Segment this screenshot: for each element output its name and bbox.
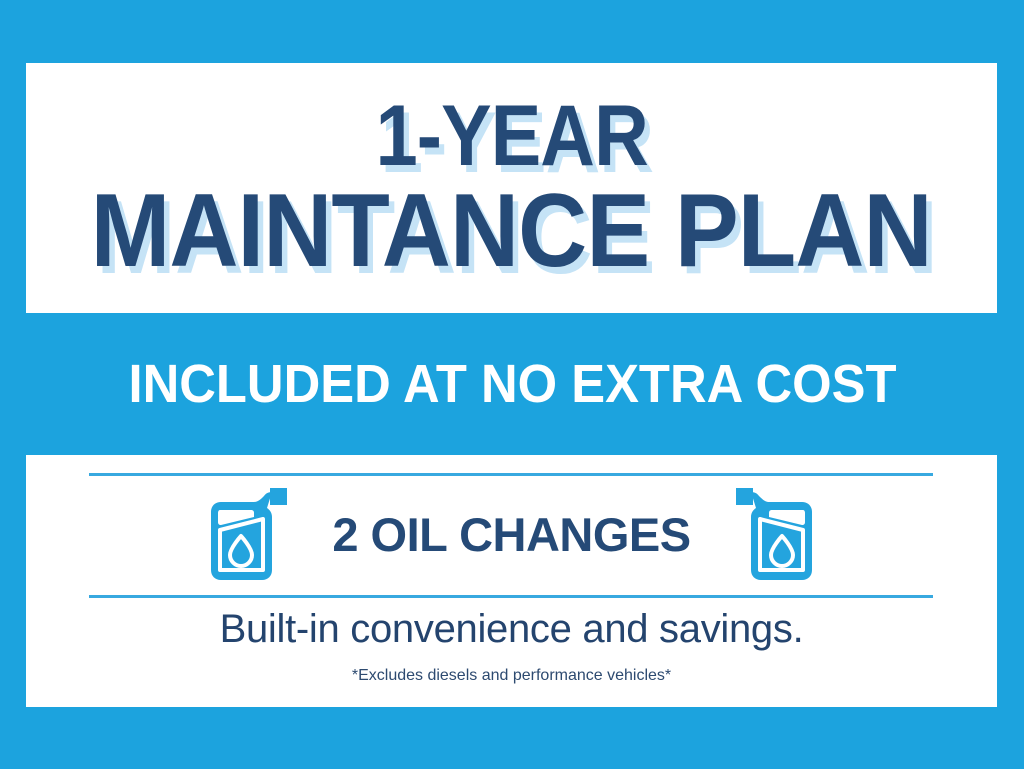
feature-panel: 2 OIL CHANGES Built-in convenience and s… (26, 455, 997, 707)
headline-panel: 1-YEAR MAINTANCE PLAN (26, 63, 997, 313)
feature-label: 2 OIL CHANGES (332, 507, 690, 562)
oil-jug-icon-right (733, 486, 815, 582)
feature-row: 2 OIL CHANGES (26, 473, 997, 595)
divider-bottom (89, 595, 933, 598)
fineprint-disclaimer: *Excludes diesels and performance vehicl… (26, 667, 997, 685)
subtitle-band: INCLUDED AT NO EXTRA COST (0, 313, 1024, 455)
oil-jug-icon-left (208, 486, 290, 582)
tagline: Built-in convenience and savings. (26, 607, 997, 652)
headline-line-2: MAINTANCE PLAN (91, 184, 932, 280)
promo-poster: 1-YEAR MAINTANCE PLAN INCLUDED AT NO EXT… (0, 0, 1024, 769)
headline-line-1: 1-YEAR (375, 97, 647, 176)
subtitle-text: INCLUDED AT NO EXTRA COST (128, 353, 896, 415)
